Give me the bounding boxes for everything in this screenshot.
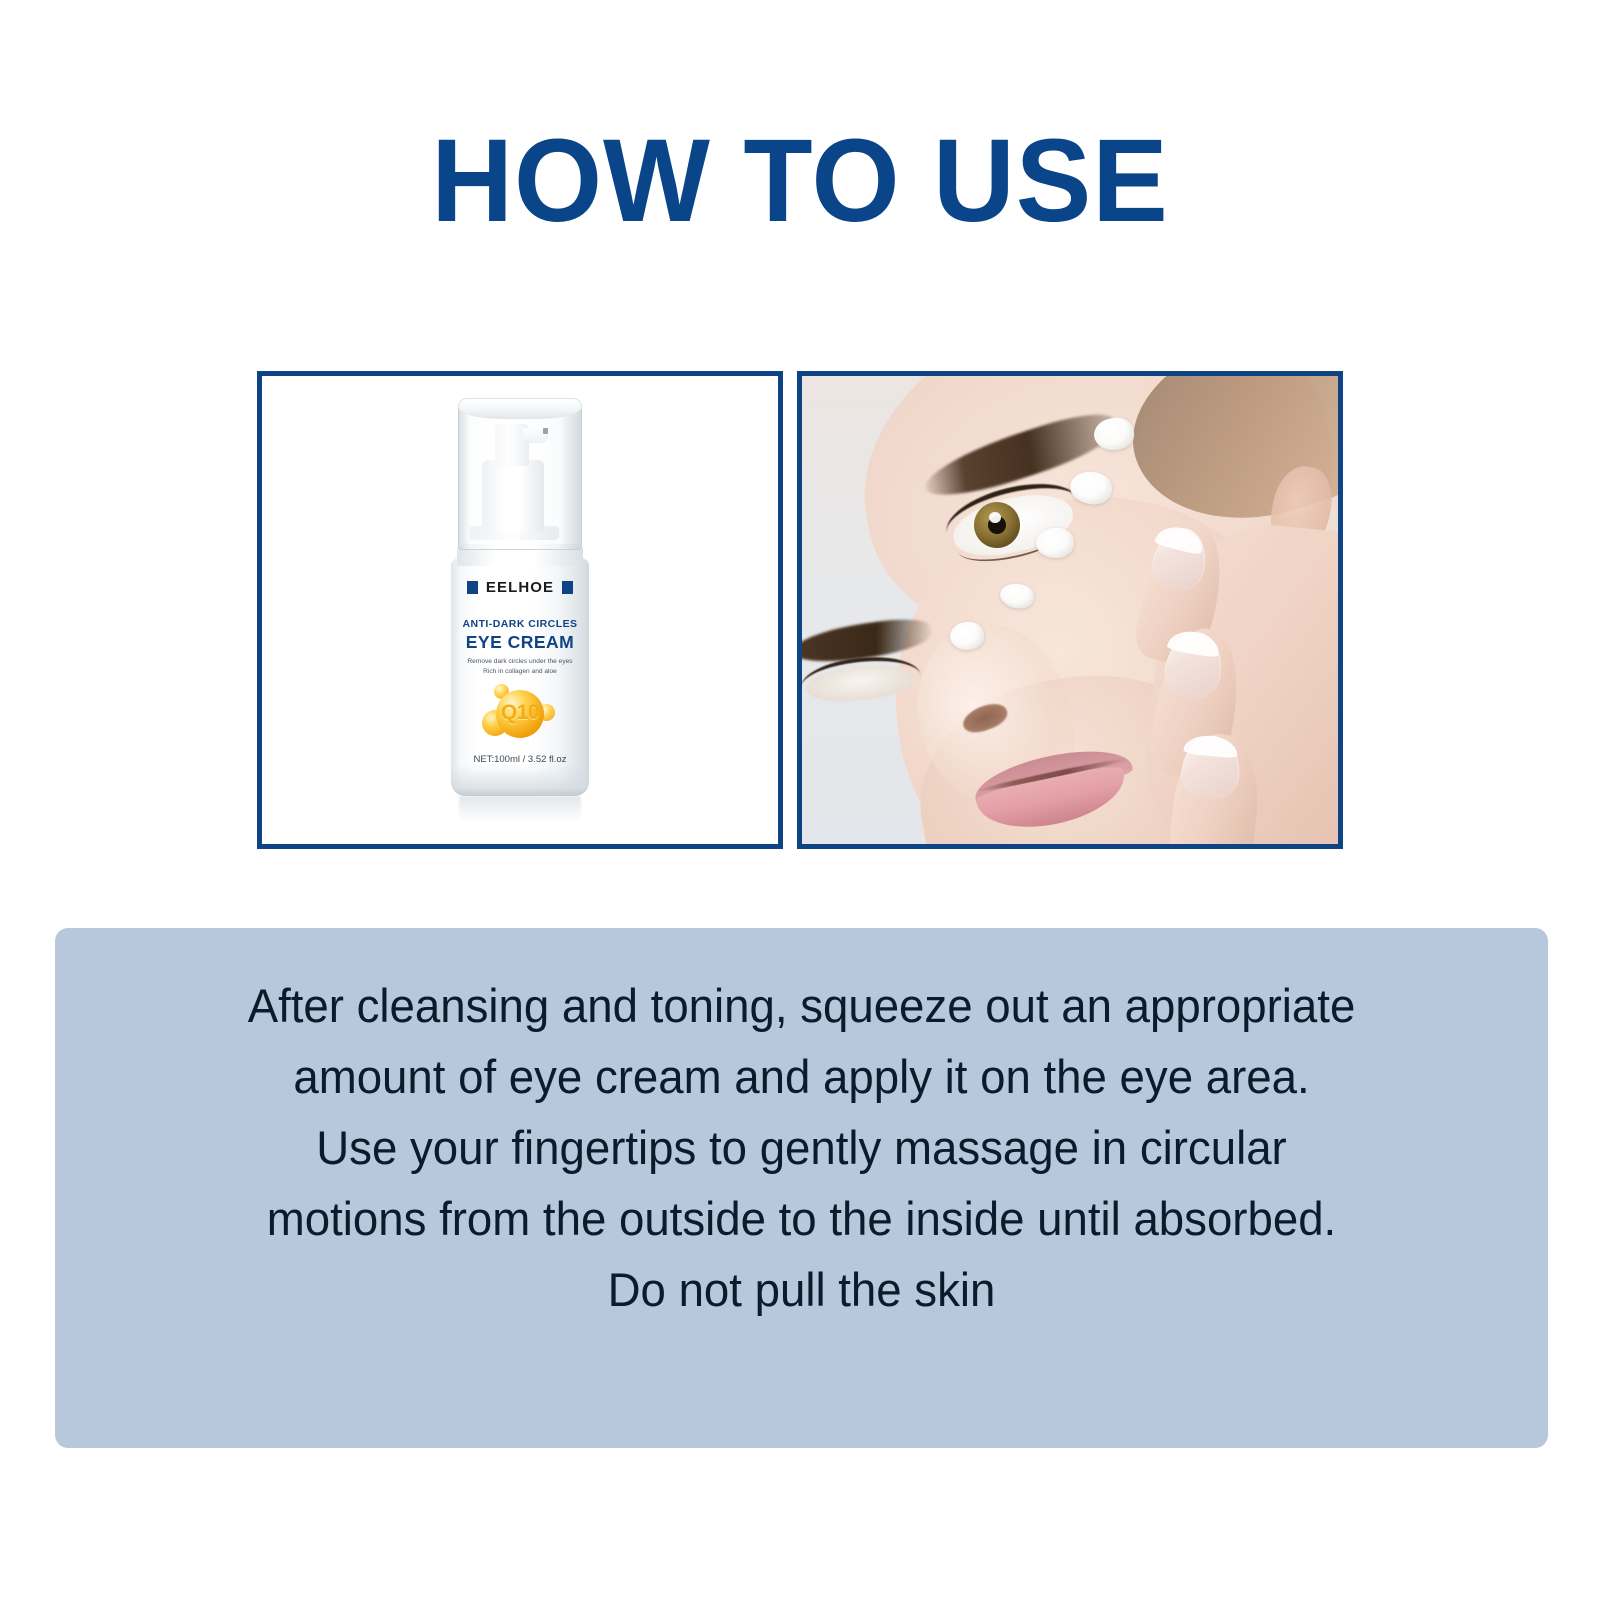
brand-name: EELHOE [486,580,554,595]
label-product-name: EYE CREAM [451,632,589,653]
label-description-line-2: Rich in collagen and aloe [451,667,589,677]
product-image-stage: EELHOE ANTI-DARK CIRCLES EYE CREAM Remov… [262,376,778,844]
bottle-label: EELHOE ANTI-DARK CIRCLES EYE CREAM Remov… [451,558,589,796]
cap-top [458,398,582,419]
instruction-line-1: After cleansing and toning, squeeze out … [120,970,1483,1041]
label-description-line-1: Remove dark circles under the eyes [451,657,589,667]
instruction-line-5: Do not pull the skin [120,1254,1483,1325]
instructions-text: After cleansing and toning, squeeze out … [120,970,1483,1325]
label-description: Remove dark circles under the eyes Rich … [451,657,589,676]
application-image-frame [797,371,1343,849]
q10-badge-icon: Q10 [480,684,560,740]
instruction-line-3: Use your fingertips to gently massage in… [120,1112,1483,1183]
label-subtitle: ANTI-DARK CIRCLES [451,618,589,630]
brand-row: EELHOE [451,580,589,595]
label-net-volume: NET:100ml / 3.52 fl.oz [451,754,589,765]
brand-tick-right-icon [562,581,573,594]
product-image-frame: EELHOE ANTI-DARK CIRCLES EYE CREAM Remov… [257,371,783,849]
model-applying-cream-photo [802,376,1338,844]
bottle-reflection [459,796,581,822]
instructions-panel: After cleansing and toning, squeeze out … [55,928,1548,1448]
page-title: HOW TO USE [32,118,1568,244]
instruction-line-2: amount of eye cream and apply it on the … [120,1041,1483,1112]
q10-badge-label: Q10 [486,702,554,723]
brand-tick-left-icon [467,581,478,594]
eye-cream-bottle: EELHOE ANTI-DARK CIRCLES EYE CREAM Remov… [437,398,603,810]
instruction-line-4: motions from the outside to the inside u… [120,1183,1483,1254]
transparent-cap [458,398,582,550]
